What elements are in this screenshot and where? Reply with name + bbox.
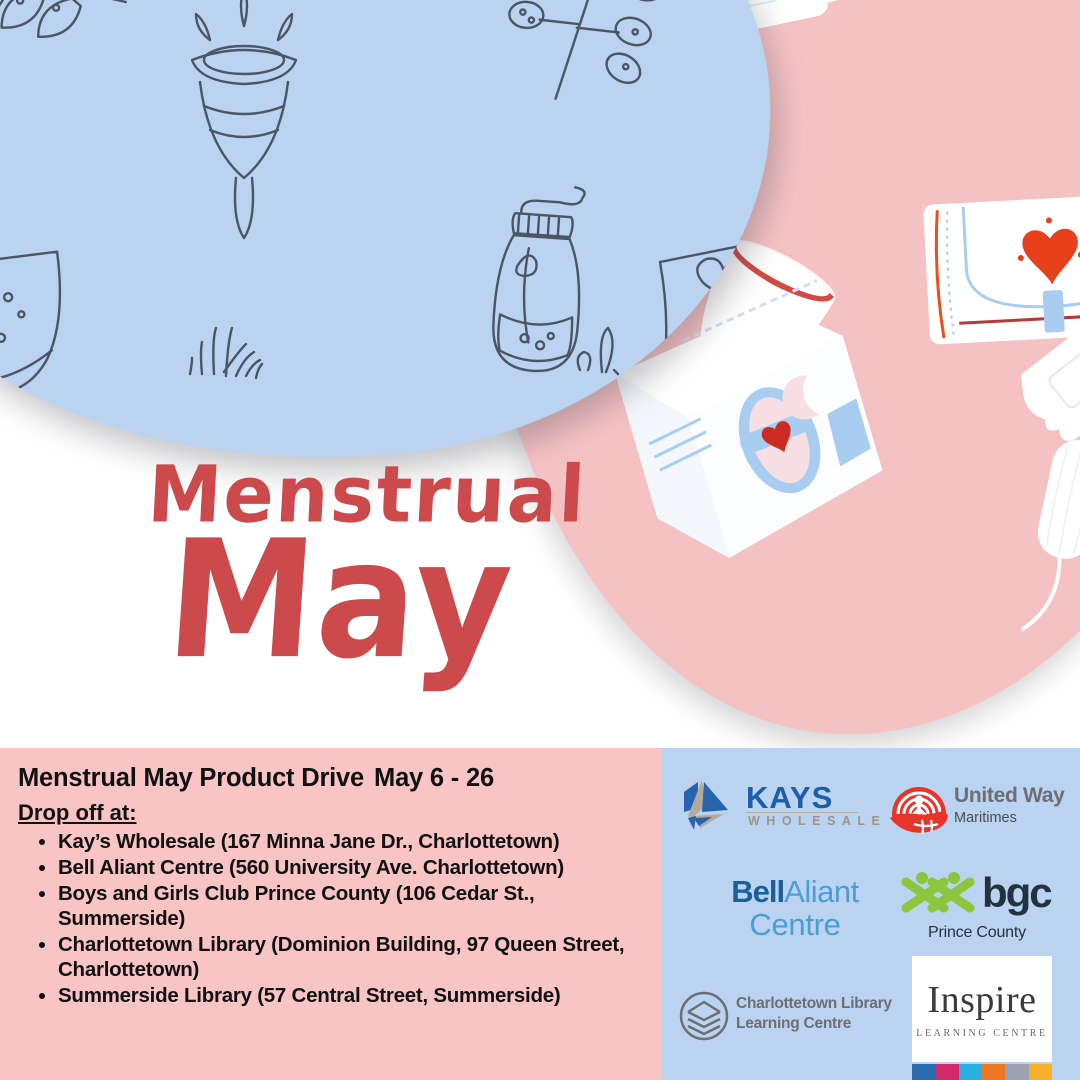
period-underwear-doodle [0, 252, 67, 400]
bell-aliant-wordmark: BellAliant [700, 876, 890, 908]
kays-subtitle: WHOLESALE [748, 814, 886, 828]
bell-aliant-centre-logo: BellAliant Centre [700, 876, 890, 944]
bgc-mark-icon [898, 872, 978, 918]
stripe-swatch-3 [959, 1064, 982, 1080]
inspire-wordmark: Inspire [912, 978, 1052, 1022]
list-item: Charlottetown Library (Dominion Building… [58, 932, 648, 982]
library-line-2: Learning Centre [736, 1015, 851, 1033]
poster-artwork-area: prod [0, 0, 1080, 750]
banner-headline: Menstrual May Product DriveMay 6 - 26 [18, 764, 648, 792]
grass-tuft-doodle [190, 328, 262, 378]
title-line-may: May [161, 505, 519, 694]
inspire-white-card: Inspire LEARNING CENTRE [912, 956, 1052, 1062]
poster-title: Menstrual May [0, 452, 640, 702]
menstrual-cup-doodle [192, 0, 296, 238]
united-way-subtitle: Maritimes [954, 810, 1017, 826]
united-way-wordmark: United Way [954, 784, 1065, 808]
inspire-color-stripe [912, 1064, 1052, 1080]
soap-dispenser-doodle [490, 182, 587, 373]
bgc-subtitle: Prince County [928, 924, 1026, 942]
library-book-stack-icon [678, 990, 730, 1042]
list-item: Summerside Library (57 Central Street, S… [58, 983, 648, 1008]
berry-branch-doodle [492, 0, 678, 117]
list-item: Kay’s Wholesale (167 Minna Jane Dr., Cha… [58, 829, 648, 854]
tampon-illustration [1017, 435, 1080, 640]
united-way-mark-icon [888, 774, 950, 836]
folded-cloth-pad-doodle [653, 232, 804, 363]
kays-divider-rule [746, 812, 858, 813]
stripe-swatch-6 [1029, 1064, 1052, 1080]
grass-tuft-doodle [578, 328, 618, 374]
kays-wholesale-logo: KAYS WHOLESALE [682, 776, 862, 838]
stripe-swatch-2 [935, 1064, 958, 1080]
inspire-learning-centre-logo: Inspire LEARNING CENTRE [912, 956, 1052, 1080]
charlottetown-library-logo: Charlottetown Library Learning Centre [674, 986, 904, 1048]
united-way-logo: United Way Maritimes [888, 770, 1078, 840]
inspire-subtitle: LEARNING CENTRE [912, 1028, 1052, 1039]
bell-word: Bell [731, 874, 784, 909]
pouch-with-heart-illustration [923, 192, 1080, 345]
menstrual-may-poster: prod [0, 0, 1080, 1080]
aliant-word: Aliant [784, 874, 859, 909]
library-line-1: Charlottetown Library [736, 995, 892, 1013]
bell-centre-word: Centre [700, 908, 890, 941]
bgc-wordmark: bgc [982, 872, 1051, 914]
dropoff-label-row: Drop off at: [18, 800, 648, 829]
headline-title: Menstrual May Product Drive [18, 764, 364, 792]
stripe-swatch-5 [1005, 1064, 1028, 1080]
dropoff-label: Drop off at: [18, 800, 137, 826]
dropoff-location-list: Kay’s Wholesale (167 Minna Jane Dr., Cha… [18, 829, 648, 1008]
kays-mark-icon [682, 778, 746, 836]
stripe-swatch-1 [912, 1064, 935, 1080]
sponsor-logos-panel: KAYS WHOLESALE United Way [662, 748, 1080, 1080]
kays-wordmark: KAYS [746, 780, 833, 816]
stripe-swatch-4 [982, 1064, 1005, 1080]
list-item: Bell Aliant Centre (560 University Ave. … [58, 855, 648, 880]
dropoff-info-panel: Menstrual May Product DriveMay 6 - 26 Dr… [0, 748, 662, 1080]
list-item: Boys and Girls Club Prince County (106 C… [58, 881, 648, 931]
bgc-prince-county-logo: bgc Prince County [898, 866, 1078, 952]
leaf-branch-doodle [0, 0, 138, 60]
headline-dates: May 6 - 26 [374, 764, 494, 792]
bottom-banner: Menstrual May Product DriveMay 6 - 26 Dr… [0, 748, 1080, 1080]
